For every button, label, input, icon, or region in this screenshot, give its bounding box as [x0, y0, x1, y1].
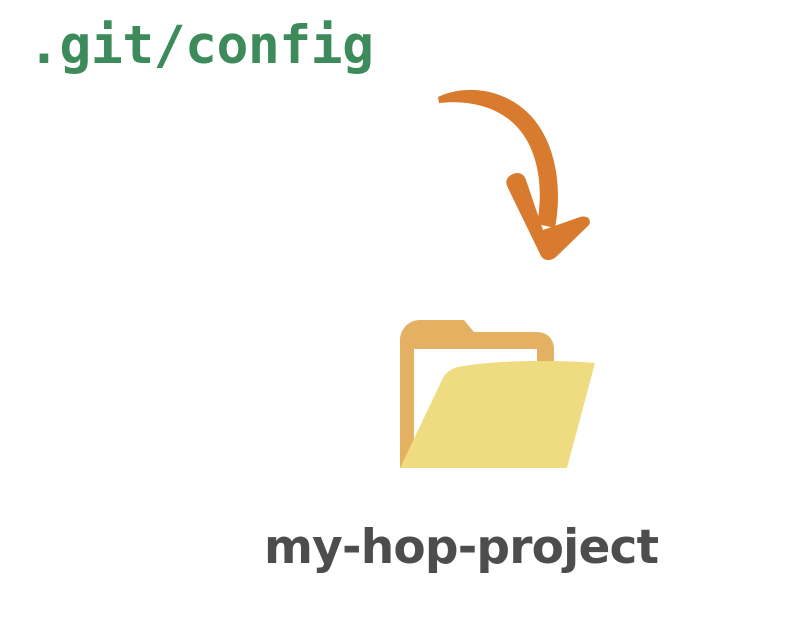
- diagram-canvas: .git/config my-hop-project: [0, 0, 802, 624]
- open-folder-icon: [392, 310, 607, 480]
- curved-down-right-arrow-icon: [425, 78, 605, 268]
- project-name-label: my-hop-project: [264, 521, 658, 575]
- git-config-path-label: .git/config: [28, 18, 374, 74]
